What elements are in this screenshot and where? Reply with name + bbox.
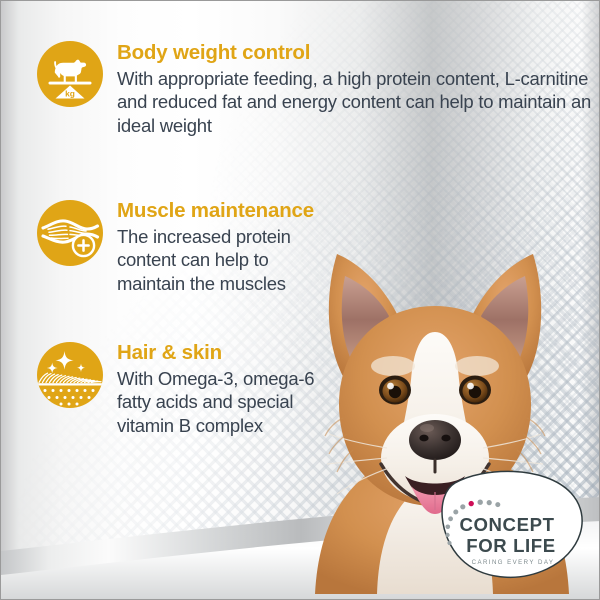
logo-tagline: CARING EVERY DAY (472, 559, 555, 566)
logo-line2: FOR LIFE (466, 535, 556, 556)
feature-title: Body weight control (117, 42, 599, 65)
dog-on-scale-icon: kg (37, 41, 103, 107)
hair-skin-icon (37, 342, 103, 408)
logo-line1: CONCEPT (459, 514, 554, 535)
logo-dot-highlight (469, 501, 474, 506)
product-feature-panel: kg Body weight control With appropriate … (0, 0, 600, 600)
concept-for-life-logo: CONCEPT FOR LIFE CARING EVERY DAY (425, 467, 589, 583)
scale-kg-label: kg (65, 88, 75, 98)
feature-body-weight-control: kg Body weight control With appropriate … (37, 41, 599, 137)
feature-body: With appropriate feeding, a high protein… (117, 67, 599, 137)
muscle-fiber-plus-icon (37, 200, 103, 266)
